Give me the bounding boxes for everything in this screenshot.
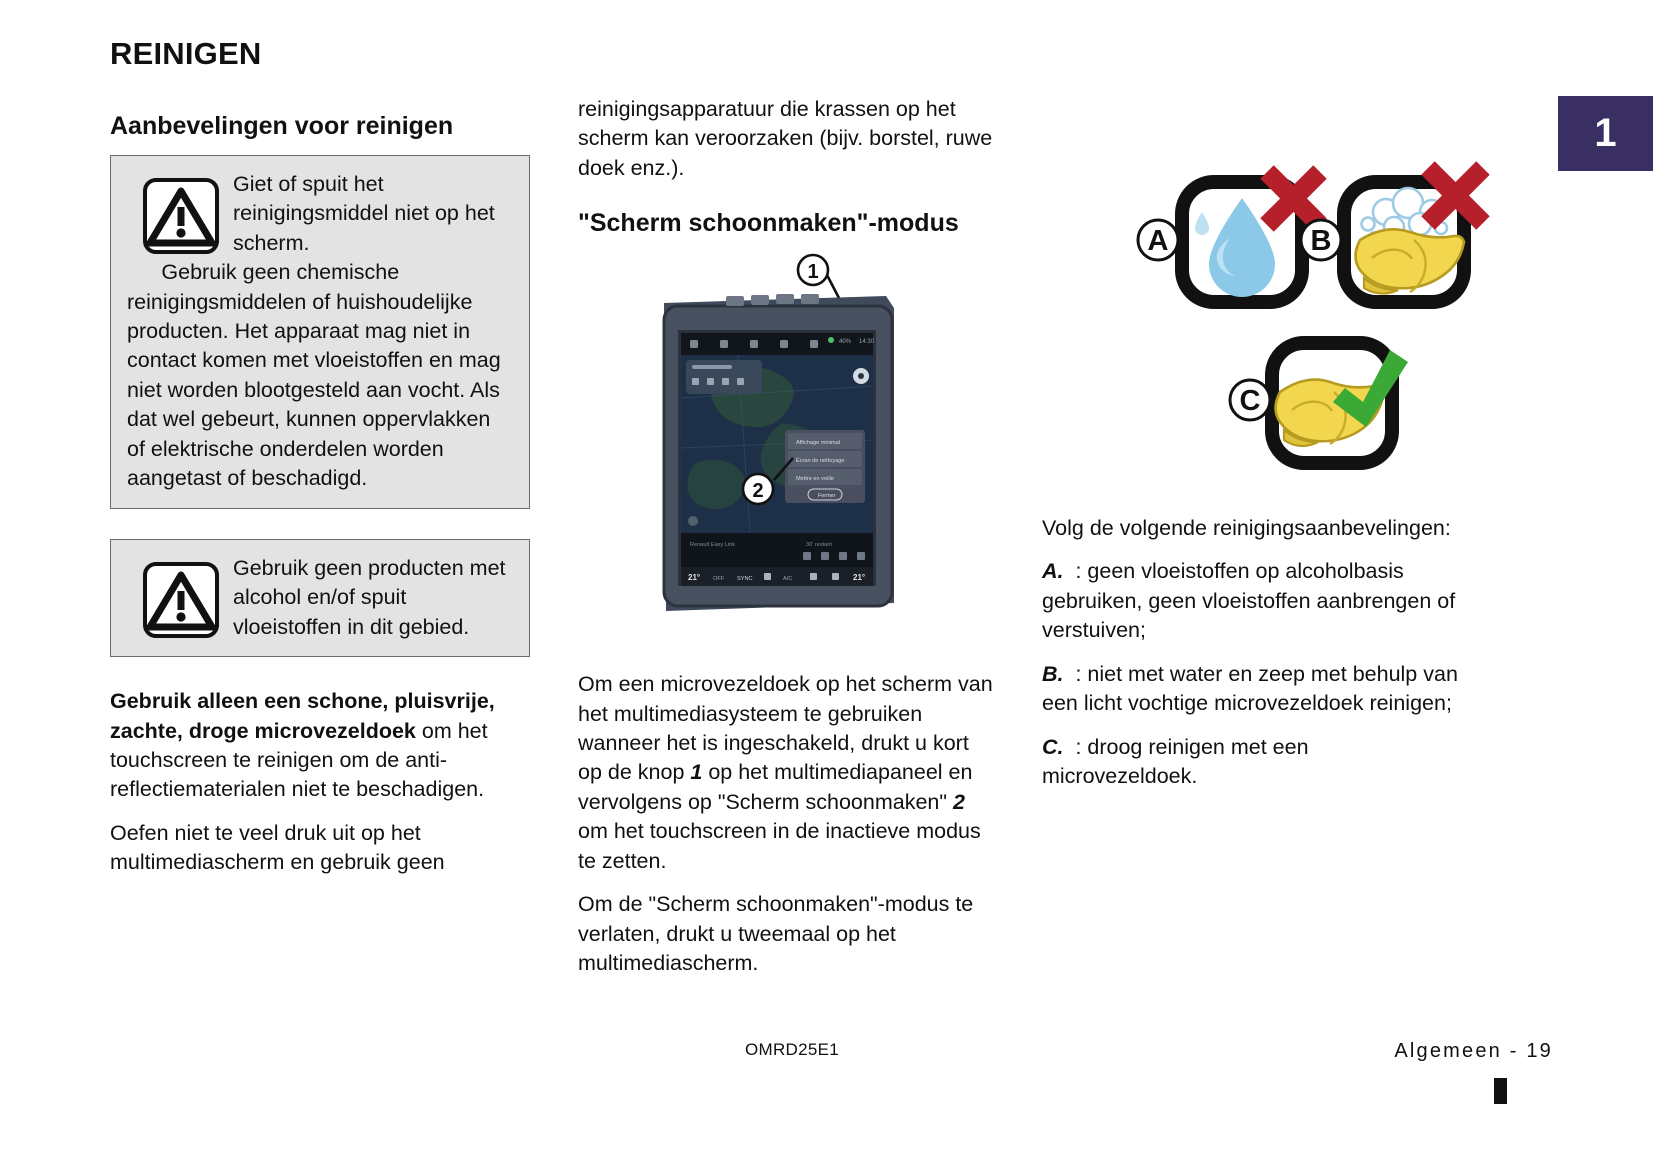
- figure-item-a: A: [1138, 172, 1320, 302]
- left-column: Aanbevelingen voor reinigen Giet of spui…: [110, 112, 530, 892]
- right-item-a: A. : geen vloeistoffen op alcoholbasis g…: [1042, 557, 1462, 645]
- svg-text:OFF: OFF: [713, 576, 725, 582]
- figure-multimedia-tablet: 40% 14:30: [578, 248, 989, 648]
- svg-text:40%: 40%: [839, 339, 852, 345]
- svg-text:1: 1: [807, 261, 818, 283]
- middle-paragraph-1: Om een microvezeldoek op het scherm van …: [578, 670, 993, 876]
- right-item-c-text: : droog reinigen met een microvezeldoek.: [1042, 735, 1309, 788]
- warning-box-1-line-1: Giet of spuit het reinigingsmiddel niet …: [233, 172, 495, 255]
- svg-text:Mettre en veille: Mettre en veille: [796, 476, 834, 482]
- figure-item-b: B: [1301, 168, 1483, 302]
- right-item-c-letter: C.: [1042, 735, 1064, 759]
- svg-text:Renault Easy Link: Renault Easy Link: [690, 542, 735, 548]
- middle-paragraph-2: Om de "Scherm schoonmaken"-modus te verl…: [578, 890, 993, 978]
- left-paragraph-2: Oefen niet te veel druk uit op het multi…: [110, 819, 530, 878]
- warning-box-1-line-2: Gebruik geen chemische reinigingsmiddele…: [127, 260, 501, 490]
- left-paragraph-1: Gebruik alleen een schone, pluisvrije, z…: [110, 687, 530, 805]
- callout-ref-2: 2: [953, 790, 965, 814]
- svg-text:21°: 21°: [688, 573, 700, 582]
- svg-text:SYNC: SYNC: [737, 576, 753, 582]
- section-title-screen-clean-mode: "Scherm schoonmaken"-modus: [578, 209, 993, 238]
- svg-text:C: C: [1240, 385, 1261, 417]
- svg-text:Affichage minimal: Affichage minimal: [796, 440, 840, 446]
- right-item-b-letter: B.: [1042, 662, 1064, 686]
- right-item-b-text: : niet met water en zeep met behulp van …: [1042, 662, 1458, 715]
- chapter-tab: 1: [1558, 96, 1653, 171]
- manual-page: 1 REINIGEN Aanbevelingen voor reinigen G…: [0, 0, 1653, 1165]
- svg-text:A/C: A/C: [783, 576, 792, 582]
- right-item-b: B. : niet met water en zeep met behulp v…: [1042, 660, 1462, 719]
- footer-page-label: Algemeen - 19: [1394, 1040, 1553, 1063]
- svg-text:Fermer: Fermer: [818, 493, 836, 499]
- svg-text:21°: 21°: [853, 573, 865, 582]
- callout-ref-1: 1: [690, 760, 702, 784]
- warning-triangle-icon: [143, 562, 219, 638]
- svg-text:30' restant: 30' restant: [806, 542, 832, 548]
- svg-text:B: B: [1311, 225, 1332, 257]
- section-title-recommendations: Aanbevelingen voor reinigen: [110, 112, 530, 141]
- warning-box-2: Gebruik geen producten met alcohol en/of…: [110, 539, 530, 657]
- footer-section-marker: [1494, 1078, 1507, 1104]
- svg-text:Écran de nettoyage: Écran de nettoyage: [796, 457, 845, 464]
- right-item-a-letter: A.: [1042, 559, 1064, 583]
- middle-paragraph-1-c: om het touchscreen in de inactieve modus…: [578, 819, 981, 872]
- warning-triangle-icon: [143, 178, 219, 254]
- middle-continued-paragraph: reinigingsapparatuur die krassen op het …: [578, 95, 993, 183]
- figure-item-c: C: [1230, 343, 1408, 463]
- right-item-c: C. : droog reinigen met een microvezeldo…: [1042, 733, 1462, 792]
- svg-text:2: 2: [752, 480, 763, 502]
- page-title: REINIGEN: [110, 36, 261, 72]
- right-item-a-text: : geen vloeistoffen op alcoholbasis gebr…: [1042, 559, 1455, 642]
- svg-text:14:30: 14:30: [859, 339, 875, 345]
- chapter-tab-number: 1: [1594, 111, 1616, 156]
- right-column: A: [1042, 100, 1462, 806]
- warning-box-1: Giet of spuit het reinigingsmiddel niet …: [110, 155, 530, 509]
- right-intro-paragraph: Volg de volgende reinigingsaanbevelingen…: [1042, 514, 1462, 543]
- footer-document-code: OMRD25E1: [745, 1040, 839, 1060]
- middle-column: reinigingsapparatuur die krassen op het …: [578, 95, 993, 993]
- figure-cleaning-dos-donts: A: [1042, 100, 1497, 510]
- svg-text:A: A: [1148, 225, 1169, 257]
